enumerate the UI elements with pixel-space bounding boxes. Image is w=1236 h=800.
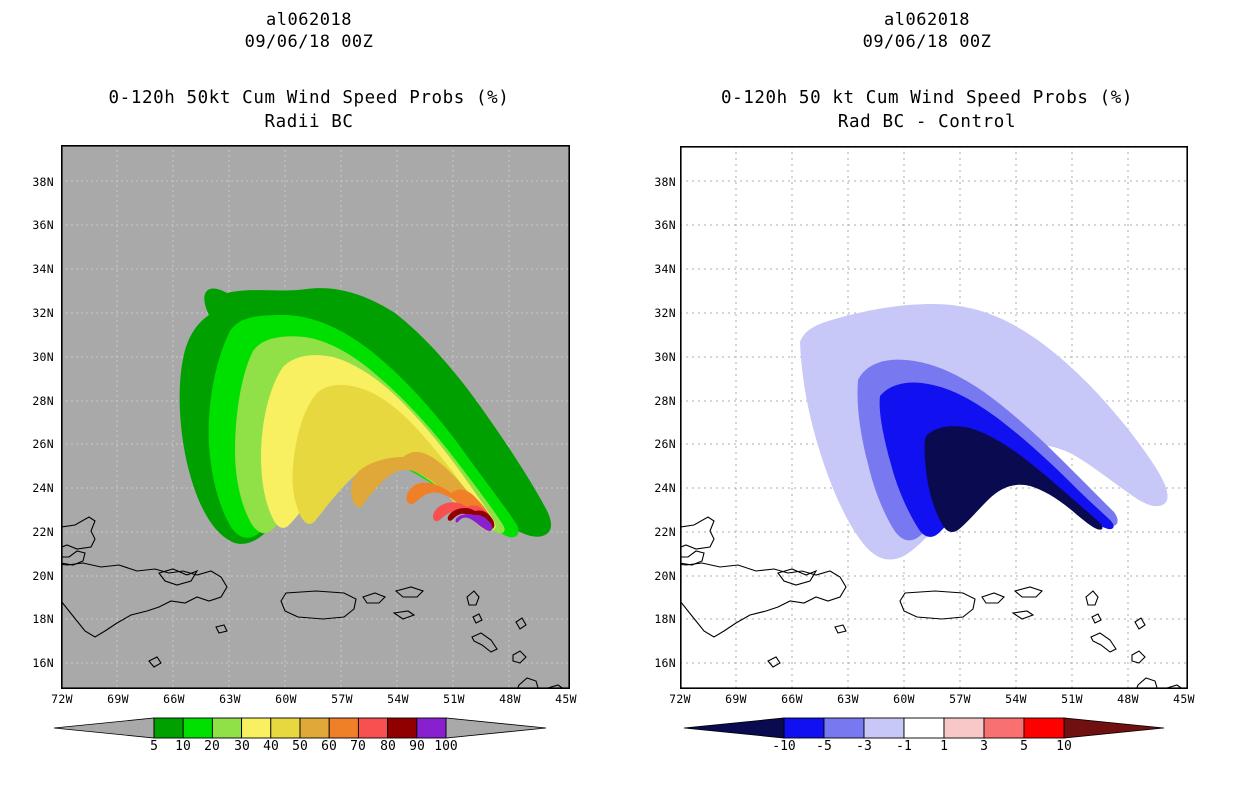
left-xtick-8: 48W (490, 692, 530, 706)
right-ytick-5: 28N (628, 394, 676, 408)
left-ytick-0: 38N (10, 175, 54, 189)
right-xtick-8: 48W (1108, 692, 1148, 706)
left-ytick-4: 30N (10, 350, 54, 364)
right-xtick-2: 66W (772, 692, 812, 706)
left-xtick-4: 60W (266, 692, 306, 706)
right-cb-label-0: -10 (764, 739, 804, 754)
right-xtick-7: 51W (1052, 692, 1092, 706)
right-colorbar-cells (784, 718, 1064, 738)
left-ytick-5: 28N (10, 394, 54, 408)
left-xtick-9: 45W (546, 692, 586, 706)
right-plot-title: 0-120h 50 kt Cum Wind Speed Probs (%) (618, 88, 1236, 108)
left-ytick-11: 16N (10, 656, 54, 670)
right-colorbar-svg (670, 717, 1170, 739)
right-xtick-0: 72W (660, 692, 700, 706)
right-ytick-8: 22N (628, 525, 676, 539)
left-ytick-2: 34N (10, 262, 54, 276)
right-cb-label-2: -3 (844, 739, 884, 754)
left-xtick-6: 54W (378, 692, 418, 706)
right-cb-label-1: -5 (804, 739, 844, 754)
right-colorbar-over-arrow (1064, 718, 1164, 738)
left-map-svg (61, 145, 570, 689)
right-datetime: 09/06/18 00Z (618, 32, 1236, 52)
right-map-plot (680, 146, 1188, 689)
left-storm-id: al062018 (0, 10, 618, 30)
right-xtick-9: 45W (1164, 692, 1204, 706)
wind-speed-probability-figure: al062018 09/06/18 00Z 0-120h 50kt Cum Wi… (0, 0, 1236, 800)
left-map-plot (61, 145, 570, 689)
left-panel: al062018 09/06/18 00Z 0-120h 50kt Cum Wi… (0, 0, 618, 800)
right-ytick-1: 36N (628, 218, 676, 232)
left-xtick-1: 69W (98, 692, 138, 706)
right-xtick-4: 60W (884, 692, 924, 706)
right-panel: al062018 09/06/18 00Z 0-120h 50 kt Cum W… (618, 0, 1236, 800)
right-cb-label-5: 3 (964, 739, 1004, 754)
left-xtick-7: 51W (434, 692, 474, 706)
right-cb-label-4: 1 (924, 739, 964, 754)
right-ytick-7: 24N (628, 481, 676, 495)
right-map-svg (680, 146, 1188, 689)
right-colorbar: -10 -5 -3 -1 1 3 5 10 (670, 717, 1170, 739)
left-xtick-3: 63W (210, 692, 250, 706)
right-cb-label-6: 5 (1004, 739, 1044, 754)
left-ytick-8: 22N (10, 525, 54, 539)
left-colorbar-under-arrow (54, 718, 154, 738)
left-xtick-5: 57W (322, 692, 362, 706)
left-ytick-6: 26N (10, 437, 54, 451)
left-ytick-9: 20N (10, 569, 54, 583)
left-colorbar-svg (50, 717, 550, 739)
left-datetime: 09/06/18 00Z (0, 32, 618, 52)
right-xtick-6: 54W (996, 692, 1036, 706)
right-ytick-11: 16N (628, 656, 676, 670)
left-xtick-2: 66W (154, 692, 194, 706)
right-ytick-10: 18N (628, 612, 676, 626)
left-cb-label-10: 100 (426, 739, 466, 754)
left-colorbar-over-arrow (446, 718, 546, 738)
right-xtick-5: 57W (940, 692, 980, 706)
right-ytick-2: 34N (628, 262, 676, 276)
right-ytick-4: 30N (628, 350, 676, 364)
right-ytick-3: 32N (628, 306, 676, 320)
right-storm-id: al062018 (618, 10, 1236, 30)
right-plot-subtitle: Rad BC - Control (618, 112, 1236, 132)
left-ytick-1: 36N (10, 218, 54, 232)
left-colorbar-cells (154, 718, 446, 738)
right-cb-label-3: -1 (884, 739, 924, 754)
left-ytick-10: 18N (10, 612, 54, 626)
left-plot-title: 0-120h 50kt Cum Wind Speed Probs (%) (0, 88, 618, 108)
left-plot-subtitle: Radii BC (0, 112, 618, 132)
right-ytick-0: 38N (628, 175, 676, 189)
left-xtick-0: 72W (42, 692, 82, 706)
right-xtick-1: 69W (716, 692, 756, 706)
left-colorbar: 5 10 20 30 40 50 60 70 80 90 100 (50, 717, 550, 739)
right-ytick-6: 26N (628, 437, 676, 451)
right-ytick-9: 20N (628, 569, 676, 583)
right-xtick-3: 63W (828, 692, 868, 706)
left-ytick-7: 24N (10, 481, 54, 495)
right-colorbar-under-arrow (684, 718, 784, 738)
right-cb-label-7: 10 (1044, 739, 1084, 754)
left-ytick-3: 32N (10, 306, 54, 320)
